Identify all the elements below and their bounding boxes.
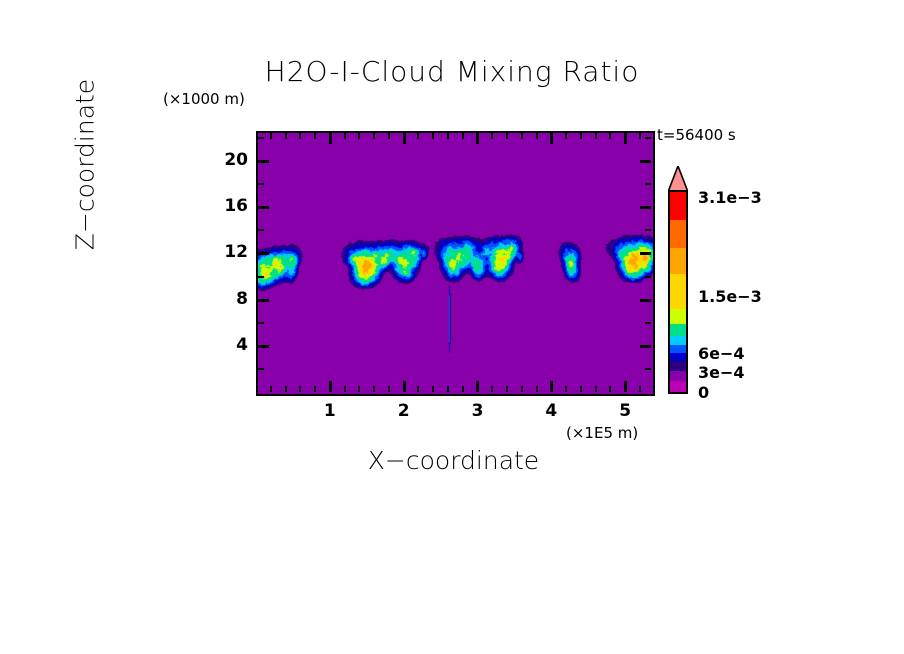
x-tick-label: 2 — [384, 401, 424, 421]
x-tick-minor-top — [270, 133, 272, 139]
colorbar-band — [670, 371, 686, 381]
x-tick-major-top — [403, 133, 406, 144]
y-tick-minor-right — [645, 276, 651, 278]
y-tick-major-right — [640, 299, 651, 302]
y-tick-minor — [258, 183, 264, 185]
x-tick-major-top — [550, 133, 553, 144]
colorbar-tick-label: 3e−4 — [698, 363, 745, 382]
colorbar-extend-arrow-icon — [668, 166, 688, 192]
x-tick-minor-bottom — [506, 386, 508, 392]
x-tick-minor-top — [285, 133, 287, 139]
timestamp-label: t=56400 s — [657, 126, 736, 144]
y-tick-major-right — [640, 252, 651, 255]
page-title: H2O-I-Cloud Mixing Ratio — [0, 55, 904, 88]
x-tick-minor-top — [580, 133, 582, 139]
y-tick-major — [258, 160, 269, 163]
x-tick-label: 5 — [605, 401, 645, 421]
colorbar-tick-label: 0 — [698, 383, 709, 402]
y-tick-minor — [258, 368, 264, 370]
x-tick-minor-bottom — [521, 386, 523, 392]
x-tick-minor-top — [491, 133, 493, 139]
x-axis-units-label: (×1E5 m) — [566, 424, 638, 442]
x-tick-minor-top — [447, 133, 449, 139]
x-tick-major-top — [476, 133, 479, 144]
y-tick-label: 20 — [188, 150, 248, 170]
colorbar-band — [670, 336, 686, 344]
x-tick-major-bottom — [624, 381, 627, 392]
x-tick-minor-top — [314, 133, 316, 139]
y-tick-label: 4 — [188, 335, 248, 355]
y-tick-minor-right — [645, 229, 651, 231]
x-tick-minor-top — [373, 133, 375, 139]
y-tick-label: 16 — [188, 196, 248, 216]
y-tick-minor — [258, 322, 264, 324]
x-tick-minor-bottom — [580, 386, 582, 392]
x-tick-minor-bottom — [595, 386, 597, 392]
y-axis-title: Z−coordinate — [71, 35, 100, 295]
y-tick-major-right — [640, 206, 651, 209]
x-tick-label: 3 — [457, 401, 497, 421]
colorbar-band-separator — [670, 191, 686, 192]
x-tick-minor-bottom — [565, 386, 567, 392]
x-tick-major-bottom — [329, 381, 332, 392]
y-tick-major-right — [640, 345, 651, 348]
x-tick-minor-bottom — [285, 386, 287, 392]
x-tick-minor-top — [358, 133, 360, 139]
x-tick-minor-top — [595, 133, 597, 139]
x-tick-minor-top — [565, 133, 567, 139]
x-tick-minor-bottom — [491, 386, 493, 392]
x-tick-label: 1 — [310, 401, 350, 421]
x-tick-minor-top — [639, 133, 641, 139]
y-tick-major — [258, 206, 269, 209]
x-tick-minor-bottom — [344, 386, 346, 392]
colorbar-band — [670, 309, 686, 324]
x-tick-minor-bottom — [536, 386, 538, 392]
contour-field-canvas — [258, 133, 653, 394]
y-tick-minor-right — [645, 322, 651, 324]
colorbar-band — [670, 220, 686, 248]
y-tick-major — [258, 345, 269, 348]
colorbar-band — [670, 381, 686, 392]
y-tick-minor-right — [645, 137, 651, 139]
colorbar-bands — [668, 190, 688, 394]
colorbar-band — [670, 361, 686, 371]
colorbar-tick-label: 3.1e−3 — [698, 188, 762, 207]
x-tick-minor-bottom — [462, 386, 464, 392]
x-tick-minor-top — [609, 133, 611, 139]
y-tick-minor — [258, 229, 264, 231]
y-tick-minor — [258, 137, 264, 139]
colorbar-band — [670, 274, 686, 309]
x-tick-minor-top — [299, 133, 301, 139]
x-tick-minor-bottom — [447, 386, 449, 392]
x-tick-minor-bottom — [358, 386, 360, 392]
colorbar-band — [670, 248, 686, 274]
x-tick-major-bottom — [550, 381, 553, 392]
colorbar-band — [670, 192, 686, 220]
colorbar — [663, 166, 693, 396]
x-tick-minor-bottom — [432, 386, 434, 392]
colorbar-tick-label: 6e−4 — [698, 344, 745, 363]
colorbar-band — [670, 345, 686, 353]
y-tick-major-right — [640, 160, 651, 163]
y-tick-major — [258, 252, 269, 255]
x-tick-major-bottom — [403, 381, 406, 392]
x-tick-minor-top — [432, 133, 434, 139]
y-tick-minor — [258, 276, 264, 278]
x-tick-major-top — [624, 133, 627, 144]
x-tick-minor-top — [521, 133, 523, 139]
y-tick-major — [258, 299, 269, 302]
x-tick-minor-bottom — [314, 386, 316, 392]
x-tick-minor-top — [344, 133, 346, 139]
colorbar-tick-label: 1.5e−3 — [698, 287, 762, 306]
x-tick-minor-bottom — [639, 386, 641, 392]
x-axis-title: X−coordinate — [256, 446, 651, 475]
x-tick-minor-top — [462, 133, 464, 139]
y-tick-minor-right — [645, 183, 651, 185]
x-tick-minor-bottom — [609, 386, 611, 392]
x-tick-major-top — [329, 133, 332, 144]
x-tick-minor-bottom — [417, 386, 419, 392]
x-tick-minor-top — [506, 133, 508, 139]
z-axis-units-label: (×1000 m) — [163, 90, 245, 108]
y-tick-minor-right — [645, 368, 651, 370]
colorbar-band — [670, 324, 686, 336]
x-tick-minor-top — [417, 133, 419, 139]
x-tick-minor-top — [536, 133, 538, 139]
x-tick-minor-bottom — [388, 386, 390, 392]
y-tick-label: 12 — [188, 242, 248, 262]
x-tick-minor-top — [388, 133, 390, 139]
x-tick-label: 4 — [531, 401, 571, 421]
x-tick-minor-bottom — [270, 386, 272, 392]
y-tick-label: 8 — [188, 289, 248, 309]
colorbar-band — [670, 353, 686, 361]
contour-plot-area — [256, 131, 655, 396]
x-tick-minor-bottom — [373, 386, 375, 392]
x-tick-minor-bottom — [299, 386, 301, 392]
x-tick-major-bottom — [476, 381, 479, 392]
